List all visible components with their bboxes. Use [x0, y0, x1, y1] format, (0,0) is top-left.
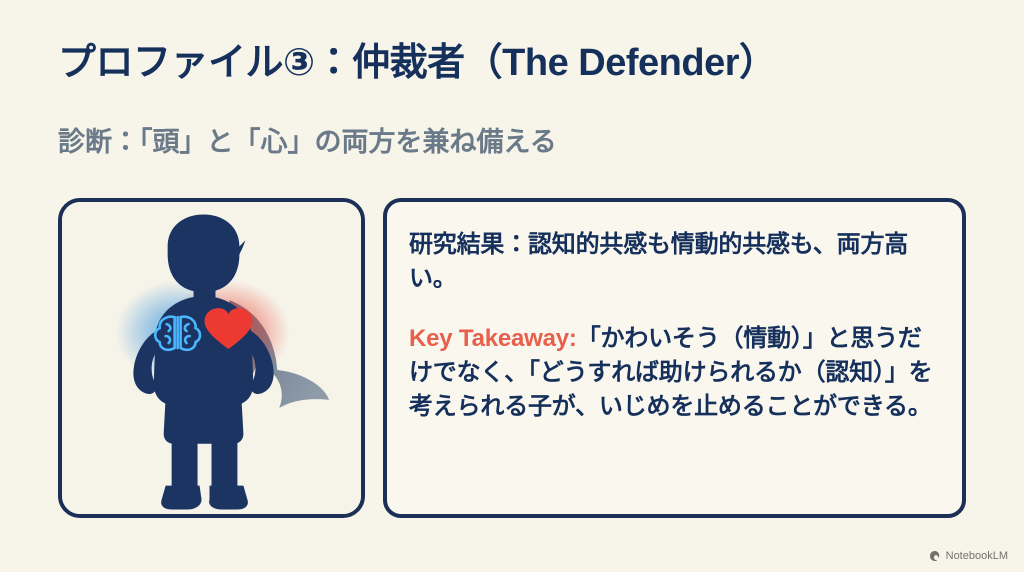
paragraph-spacer [409, 296, 940, 322]
illustration-panel [58, 198, 365, 518]
page-subtitle: 診断：「頭」と「心」の両方を兼ね備える [58, 126, 557, 158]
page-title: プロファイル③：仲裁者（The Defender） [58, 42, 777, 86]
child-superhero-illustration [62, 202, 361, 514]
key-takeaway-label: Key Takeaway: [409, 325, 577, 352]
watermark-label: NotebookLM [946, 550, 1008, 562]
notebooklm-logo-icon [929, 550, 941, 562]
watermark: NotebookLM [929, 550, 1008, 562]
text-panel: 研究結果：認知的共感も情動的共感も、両方高い。 Key Takeaway:「かわ… [383, 198, 966, 518]
research-finding-paragraph: 研究結果：認知的共感も情動的共感も、両方高い。 [409, 228, 940, 296]
key-takeaway-paragraph: Key Takeaway:「かわいそう（情動）」と思うだけでなく、「どうすれば助… [409, 322, 940, 424]
slide-root: プロファイル③：仲裁者（The Defender） 診断：「頭」と「心」の両方を… [0, 0, 1024, 572]
